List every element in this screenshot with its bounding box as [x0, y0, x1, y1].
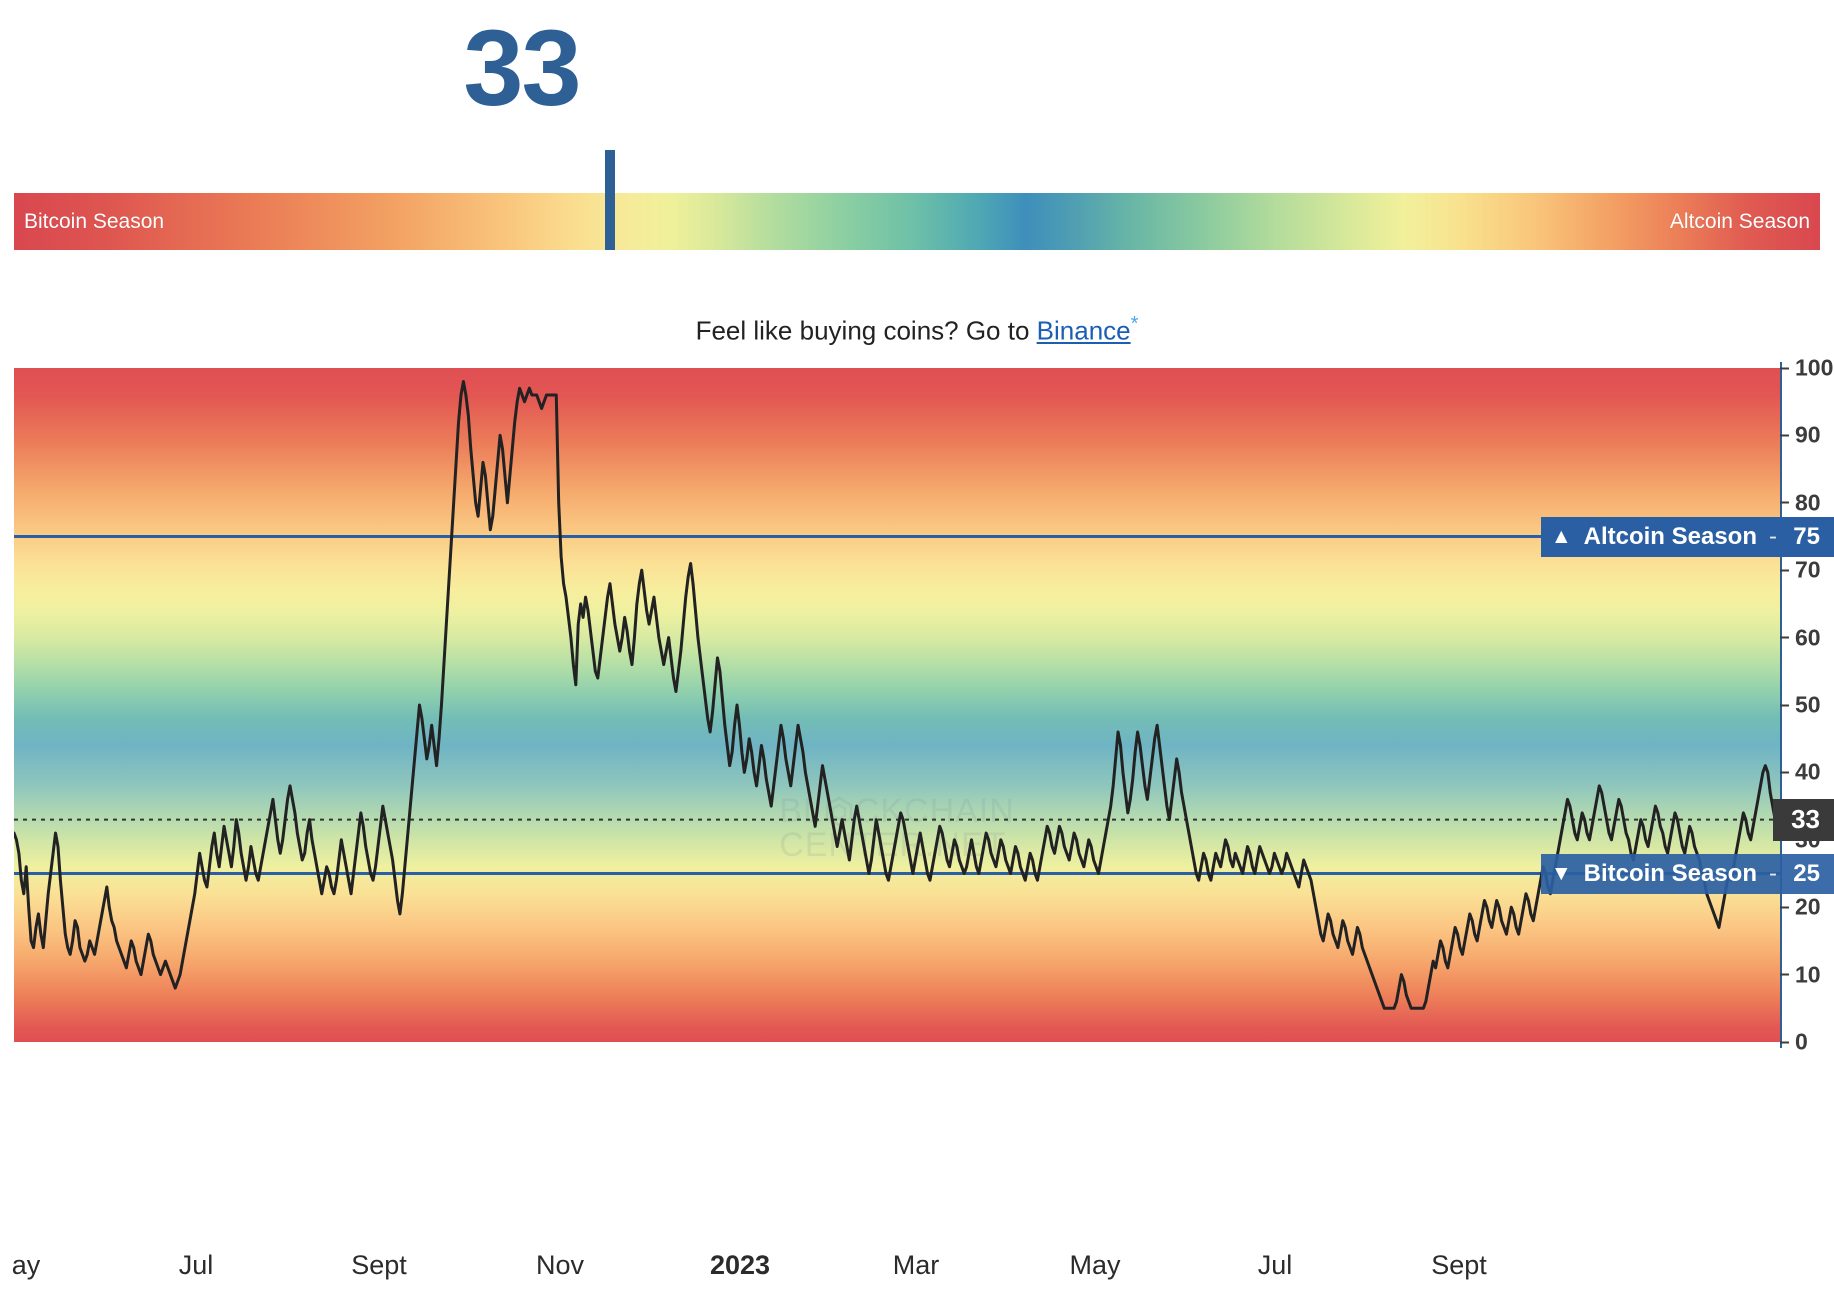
y-tick-mark — [1780, 1041, 1789, 1043]
y-tick-mark — [1780, 569, 1789, 571]
altcoin-threshold-label: Altcoin Season — [1584, 523, 1757, 551]
bitcoin-threshold-value: 25 — [1786, 860, 1820, 888]
bitcoin-threshold-separator: - — [1769, 860, 1777, 888]
triangle-down-icon: ▼ — [1551, 863, 1572, 884]
y-tick-label: 80 — [1795, 489, 1821, 516]
season-gradient-bar — [14, 193, 1820, 250]
y-tick-90: 90 — [1780, 422, 1821, 449]
y-tick-label: 90 — [1795, 422, 1821, 449]
altcoin-threshold-value: 75 — [1786, 523, 1820, 551]
triangle-up-icon: ▲ — [1551, 526, 1572, 547]
y-tick-label: 70 — [1795, 557, 1821, 584]
y-tick-50: 50 — [1780, 692, 1821, 719]
y-tick-80: 80 — [1780, 489, 1821, 516]
x-tick-label: Sept — [351, 1250, 407, 1281]
altcoin-season-index-page: 33 Bitcoin Season Altcoin Season Feel li… — [0, 0, 1834, 1294]
season-gauge-marker — [605, 150, 615, 250]
y-tick-0: 0 — [1780, 1029, 1808, 1056]
binance-link[interactable]: Binance — [1037, 316, 1131, 346]
x-tick-label: May — [1069, 1250, 1120, 1281]
y-tick-20: 20 — [1780, 894, 1821, 921]
promo-asterisk: * — [1131, 313, 1139, 335]
x-axis: ayJulSeptNov2023MarMayJulSept — [0, 1250, 1834, 1294]
series-line — [14, 381, 1780, 1008]
y-tick-mark — [1780, 704, 1789, 706]
season-gauge: Bitcoin Season Altcoin Season — [14, 193, 1820, 250]
promo-prefix: Feel like buying coins? Go to — [696, 316, 1037, 346]
y-tick-mark — [1780, 367, 1789, 369]
y-tick-mark — [1780, 906, 1789, 908]
y-tick-label: 10 — [1795, 961, 1821, 988]
altcoin-threshold-separator: - — [1769, 523, 1777, 551]
y-tick-label: 20 — [1795, 894, 1821, 921]
y-tick-70: 70 — [1780, 557, 1821, 584]
chart-plot — [14, 368, 1780, 1042]
y-tick-label: 40 — [1795, 759, 1821, 786]
altcoin-season-threshold-badge[interactable]: ▲ Altcoin Season - 75 — [1541, 517, 1834, 557]
y-tick-mark — [1780, 502, 1789, 504]
y-tick-mark — [1780, 434, 1789, 436]
y-tick-10: 10 — [1780, 961, 1821, 988]
current-value-badge: 33 — [1773, 799, 1834, 841]
y-tick-100: 100 — [1780, 355, 1833, 382]
promo-text: Feel like buying coins? Go to Binance* — [0, 313, 1834, 347]
x-tick-label: Nov — [536, 1250, 584, 1281]
altcoin-season-chart[interactable]: BL CKCHAIN CENTER.NET — [14, 368, 1780, 1042]
y-axis: 0102030405060708090100 — [1780, 368, 1834, 1042]
x-tick-label: Jul — [1258, 1250, 1293, 1281]
x-tick-label: Mar — [893, 1250, 940, 1281]
y-tick-mark — [1780, 974, 1789, 976]
x-tick-label: 2023 — [710, 1250, 770, 1281]
y-tick-label: 100 — [1795, 355, 1833, 382]
x-tick-label: ay — [12, 1250, 41, 1281]
y-tick-label: 50 — [1795, 692, 1821, 719]
x-tick-label: Sept — [1431, 1250, 1487, 1281]
y-tick-label: 60 — [1795, 624, 1821, 651]
altcoin-season-label: Altcoin Season — [1670, 193, 1810, 250]
y-tick-60: 60 — [1780, 624, 1821, 651]
y-tick-mark — [1780, 637, 1789, 639]
y-tick-label: 0 — [1795, 1029, 1808, 1056]
y-tick-mark — [1780, 771, 1789, 773]
y-tick-40: 40 — [1780, 759, 1821, 786]
index-value: 33 — [0, 14, 1043, 122]
bitcoin-season-label: Bitcoin Season — [24, 193, 164, 250]
bitcoin-threshold-label: Bitcoin Season — [1584, 860, 1757, 888]
x-tick-label: Jul — [179, 1250, 214, 1281]
bitcoin-season-threshold-badge[interactable]: ▼ Bitcoin Season - 25 — [1541, 854, 1834, 894]
